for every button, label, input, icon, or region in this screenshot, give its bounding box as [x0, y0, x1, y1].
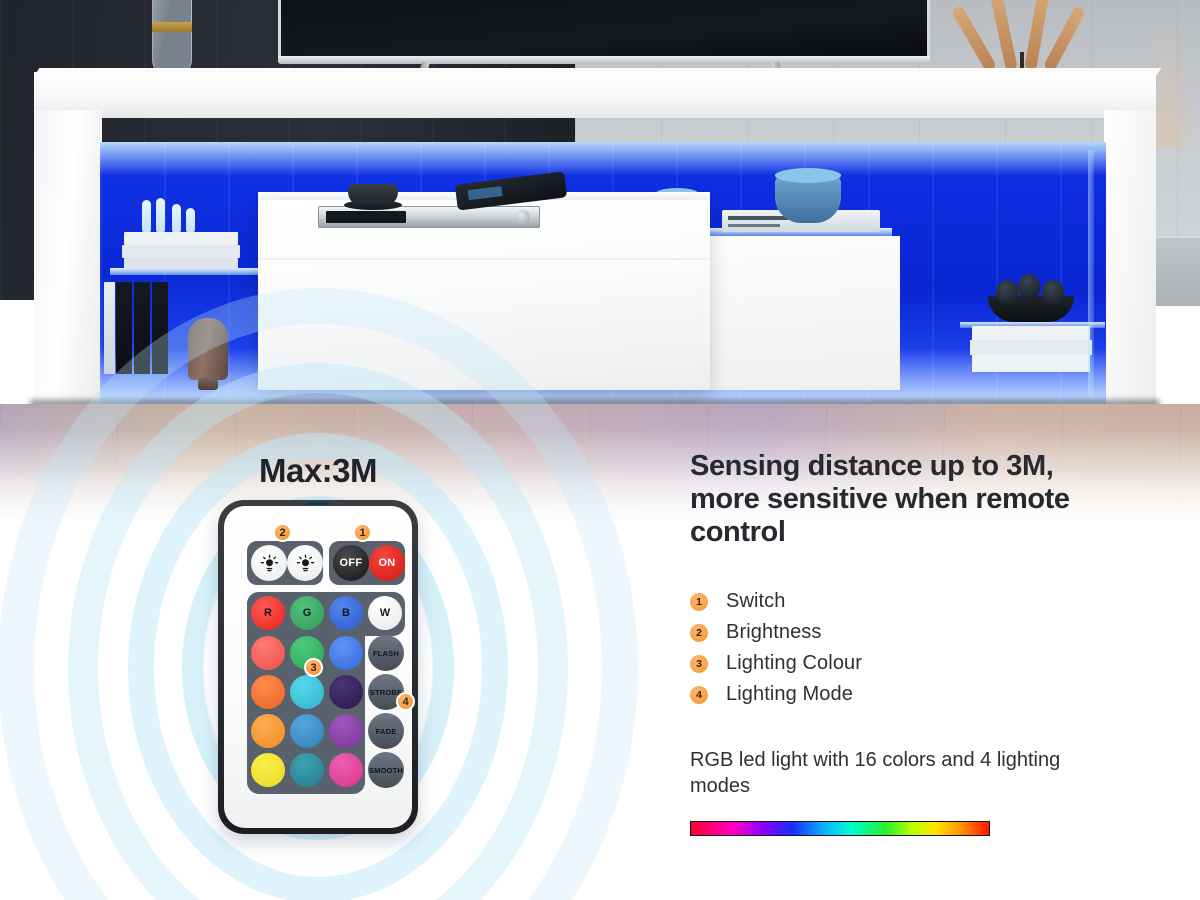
feature-label-3: Lighting Colour — [726, 652, 862, 675]
stand-side-panel-right — [1104, 110, 1156, 410]
feature-item-lighting-mode: 4 Lighting Mode — [690, 679, 1160, 710]
tv-bottom-bezel — [278, 56, 930, 64]
remote-body-shell: OFF ON R G B W — [218, 500, 418, 834]
feature-badge-3: 3 — [690, 655, 708, 673]
av-player-knob — [516, 210, 530, 224]
ir-emitter-icon — [307, 502, 329, 505]
feature-badge-4: 4 — [690, 686, 708, 704]
colour-swatch-r1c1[interactable] — [251, 636, 285, 670]
pinecone-decor-2 — [1018, 274, 1040, 298]
colour-swatch-r4c1[interactable] — [251, 753, 285, 787]
mode-button-smooth[interactable]: SMOOTH — [368, 752, 404, 788]
feature-label-2: Brightness — [726, 621, 822, 644]
stand-side-panel-left — [34, 110, 102, 420]
colour-button-blue[interactable]: B — [329, 596, 363, 630]
colour-swatch-r1c3[interactable] — [329, 636, 363, 670]
infographic-page: Max:3M OFF ON — [0, 0, 1200, 900]
brightness-up-icon — [260, 554, 279, 573]
book-spine-1 — [104, 282, 115, 374]
colour-swatch-r2c2[interactable] — [290, 675, 324, 709]
large-stone-bowl-decor — [775, 175, 841, 223]
feature-item-switch: 1 Switch — [690, 586, 1160, 617]
mode-button-fade[interactable]: FADE — [368, 713, 404, 749]
pinecone-decor-1 — [996, 280, 1018, 304]
led-glow-top-right — [612, 142, 1106, 176]
feature-badge-1: 1 — [690, 593, 708, 611]
mode-button-flash[interactable]: FLASH — [368, 635, 404, 671]
book-rooms-to-inspire — [970, 340, 1092, 355]
brightness-up-button[interactable] — [251, 545, 287, 581]
glass-vase-decor — [152, 0, 192, 76]
power-on-button[interactable]: ON — [369, 545, 405, 581]
callout-badge-1: 1 — [353, 523, 372, 542]
callout-badge-3: 3 — [304, 658, 323, 677]
book-ideal-home — [124, 258, 238, 269]
stand-top-surface — [34, 72, 1156, 118]
book-kelly-hoppen-style — [972, 326, 1090, 340]
callout-badge-4: 4 — [396, 692, 415, 711]
colour-button-white[interactable]: W — [368, 596, 402, 630]
colour-swatch-r3c2[interactable] — [290, 714, 324, 748]
colour-swatch-r4c2[interactable] — [290, 753, 324, 787]
colour-swatch-r2c1[interactable] — [251, 675, 285, 709]
glass-divider — [1088, 150, 1094, 400]
feature-list: 1 Switch 2 Brightness 3 Lighting Colour … — [690, 586, 1160, 710]
speaker-puck-base — [344, 200, 402, 210]
brightness-down-button[interactable] — [287, 545, 323, 581]
led-glow-top-left — [100, 142, 612, 176]
colour-button-green[interactable]: G — [290, 596, 324, 630]
book-shakespeare — [972, 355, 1090, 372]
brightness-down-icon — [296, 554, 315, 573]
feature-badge-2: 2 — [690, 624, 708, 642]
max-distance-label: Max:3M — [0, 452, 636, 490]
colour-swatch-r3c3[interactable] — [329, 714, 363, 748]
tray-line-2 — [728, 224, 780, 227]
colour-button-red[interactable]: R — [251, 596, 285, 630]
panel-headline: Sensing distance up to 3M, more sensitiv… — [690, 450, 1120, 548]
television — [278, 0, 930, 60]
center-drawer-seam — [258, 258, 710, 260]
feature-label-1: Switch — [726, 590, 786, 613]
av-player-display — [326, 211, 406, 223]
rgb-spectrum-bar — [690, 821, 990, 836]
book-century — [124, 232, 238, 245]
colour-swatch-r2c3[interactable] — [329, 675, 363, 709]
pinecone-decor-3 — [1042, 280, 1064, 304]
colour-swatch-r3c1[interactable] — [251, 714, 285, 748]
colour-swatch-r4c3[interactable] — [329, 753, 363, 787]
arch-ornament-decor — [142, 198, 196, 234]
feature-label-4: Lighting Mode — [726, 683, 853, 706]
callout-badge-2: 2 — [273, 523, 292, 542]
ir-remote-control: OFF ON R G B W — [218, 500, 418, 834]
info-panel: Sensing distance up to 3M, more sensitiv… — [690, 450, 1160, 836]
feature-item-lighting-colour: 3 Lighting Colour — [690, 648, 1160, 679]
rgb-subnote: RGB led light with 16 colors and 4 light… — [690, 748, 1090, 799]
glass-vase-band — [152, 22, 192, 32]
power-off-button[interactable]: OFF — [333, 545, 369, 581]
feature-item-brightness: 2 Brightness — [690, 617, 1160, 648]
book-fashion — [122, 245, 240, 258]
